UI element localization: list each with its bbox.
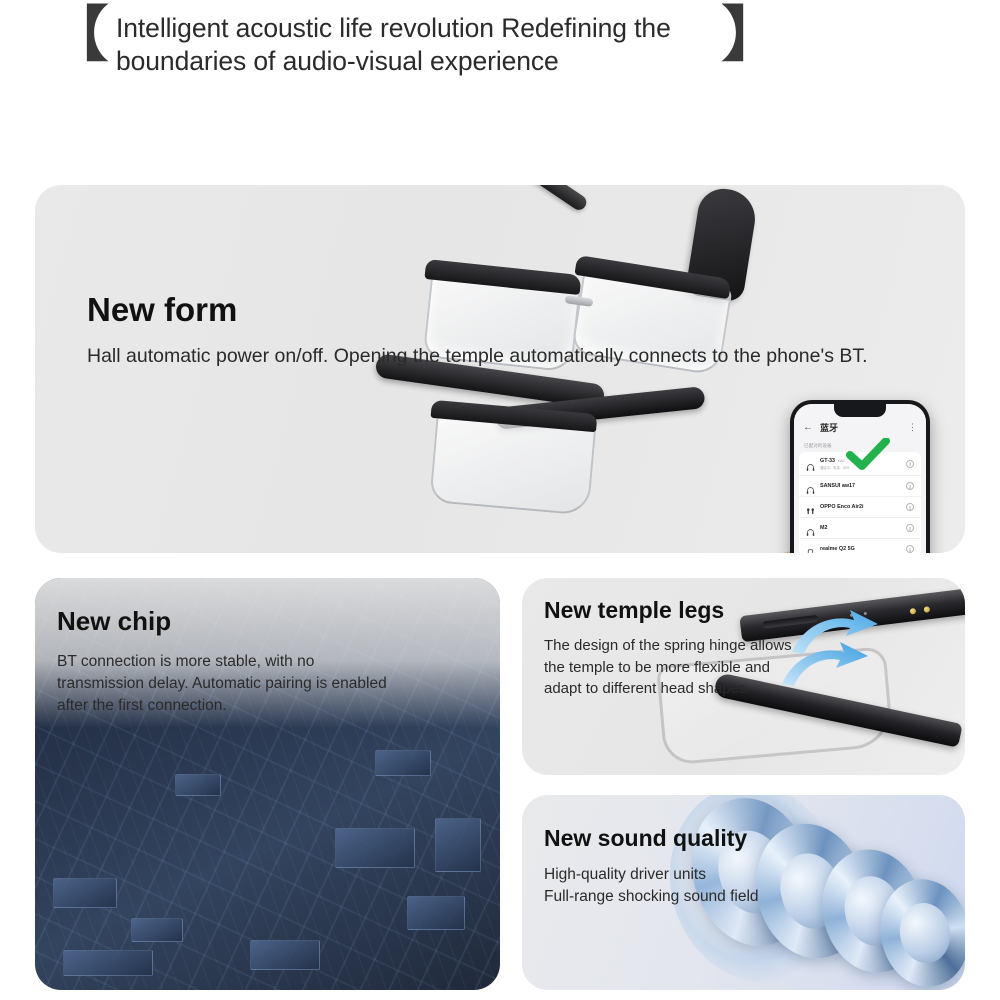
header-tagline: Intelligent acoustic life revolution Red… [116, 6, 716, 78]
panel-new-sound-quality-title: New sound quality [544, 825, 965, 852]
panel-new-form-title: New form [87, 291, 965, 329]
device-info-icon[interactable] [906, 503, 914, 511]
temple-left [483, 185, 589, 213]
phone-notch [834, 404, 886, 417]
panel-new-sound-quality-body: High-quality driver units Full-range sho… [544, 864, 814, 908]
green-check-icon [846, 438, 890, 477]
panel-new-chip-body: BT connection is more stable, with no tr… [57, 651, 387, 717]
panel-new-sound-quality: New sound quality High-quality driver un… [522, 795, 965, 990]
sound-body-line-2: Full-range shocking sound field [544, 886, 814, 908]
device-name: SANSUI aw17 [820, 483, 855, 489]
device-info-icon[interactable] [906, 545, 914, 553]
smartphone: ← 蓝牙 ⋮ 已配对的设备 GT-33HAC通话中，电量：80%SANSUI a… [790, 400, 930, 553]
earbuds-icon [806, 503, 815, 512]
device-name: realme Q2 5G [820, 546, 855, 552]
panel-new-temple-legs-title: New temple legs [544, 597, 965, 624]
bluetooth-device-row[interactable]: M2 [799, 518, 921, 539]
device-info-icon[interactable] [906, 460, 914, 468]
phone-screen: ← 蓝牙 ⋮ 已配对的设备 GT-33HAC通话中，电量：80%SANSUI a… [794, 404, 926, 553]
bluetooth-device-row[interactable]: OPPO Enco Air2i [799, 497, 921, 518]
headset-icon [806, 459, 815, 468]
header-banner: 【 Intelligent acoustic life revolution R… [0, 0, 1000, 165]
device-info-icon[interactable] [906, 482, 914, 490]
device-name: M2 [820, 525, 828, 531]
panel-new-chip: 5.4 New chip BT connection is more stabl… [35, 578, 500, 990]
panel-new-temple-legs: New temple legs The design of the spring… [522, 578, 965, 775]
phone-icon [806, 545, 815, 554]
device-name: OPPO Enco Air2i [820, 504, 864, 510]
bracket-left-icon: 【 [39, 6, 110, 64]
paired-section-label: 已配对的设备 [804, 443, 832, 449]
phone-in-hand: ← 蓝牙 ⋮ 已配对的设备 GT-33HAC通话中，电量：80%SANSUI a… [750, 400, 950, 553]
headset-icon [806, 482, 815, 491]
sound-body-line-1: High-quality driver units [544, 864, 814, 886]
panel-new-chip-title: New chip [57, 606, 500, 637]
back-arrow-icon[interactable]: ← [803, 422, 813, 433]
panel-new-temple-legs-body: The design of the spring hinge allows th… [544, 635, 794, 700]
device-info-icon[interactable] [906, 524, 914, 532]
device-tag: HAC [838, 459, 845, 463]
bluetooth-page-title: 蓝牙 [820, 421, 838, 434]
headset-icon [806, 524, 815, 533]
panel-new-form: New form Hall automatic power on/off. Op… [35, 185, 965, 553]
smart-glasses-image [365, 185, 785, 553]
bluetooth-device-row[interactable]: SANSUI aw17 [799, 476, 921, 497]
panel-new-form-body: Hall automatic power on/off. Opening the… [87, 343, 965, 369]
glasses-folded-pair [375, 355, 745, 545]
overflow-menu-icon[interactable]: ⋮ [908, 422, 917, 433]
bluetooth-device-row[interactable]: realme Q2 5G [799, 539, 921, 553]
bracket-right-icon: 】 [719, 6, 790, 64]
